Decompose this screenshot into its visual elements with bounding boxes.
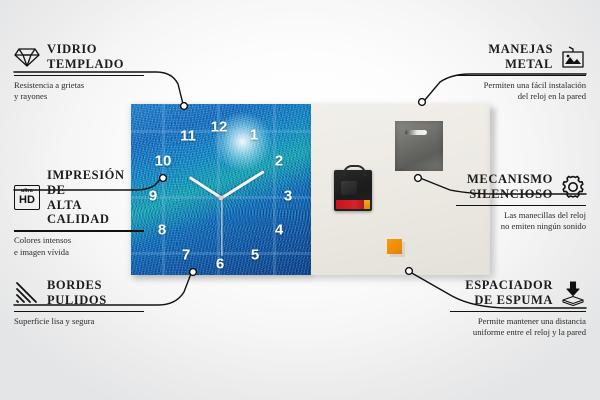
feature-rule (14, 311, 144, 313)
feature-description: Resistencia a grietas y rayones (14, 80, 144, 103)
metal-hanger-plate (395, 121, 443, 171)
feature-description: Colores intensos e imagen vívida (14, 235, 144, 258)
ultra-hd-icon: ultra HD (14, 185, 40, 211)
polished-edges-icon (14, 280, 40, 306)
clock-numeral-11: 11 (180, 129, 196, 144)
feature-title: MANEJAS METAL (488, 42, 553, 72)
feature-rule (456, 205, 586, 207)
battery-terminal (364, 200, 370, 209)
clock-numeral-7: 7 (182, 248, 190, 263)
feature-rule (456, 75, 586, 77)
clock-numeral-4: 4 (275, 223, 283, 238)
clock-center-cap (219, 196, 224, 201)
feature-description: Permiten una fácil instalación del reloj… (456, 80, 586, 103)
feature-callout-espaciador-de-espuma: ESPACIADOR DE ESPUMA Permite mantener un… (450, 278, 586, 339)
arrow-onto-layers-icon (560, 280, 586, 306)
feature-callout-mecanismo-silencioso: MECANISMO SILENCIOSO Las manecillas del … (456, 172, 586, 233)
feature-rule (14, 75, 144, 77)
mechanism-dial (341, 181, 357, 195)
feature-callout-impresion-alta-calidad: ultra HD IMPRESIÓN DE ALTA CALIDAD Color… (14, 168, 144, 258)
product-stage: 12 1 2 3 4 5 6 7 8 9 10 11 (131, 104, 490, 275)
clock-numeral-1: 1 (250, 128, 258, 143)
clock-numeral-12: 12 (211, 120, 228, 135)
feature-title: BORDES PULIDOS (47, 278, 107, 308)
feature-title: VIDRIO TEMPLADO (47, 42, 124, 72)
clock-front-face: 12 1 2 3 4 5 6 7 8 9 10 11 (131, 104, 311, 275)
feature-title: IMPRESIÓN DE ALTA CALIDAD (47, 168, 144, 227)
foam-spacer (387, 239, 402, 254)
feature-callout-manejas-metal: MANEJAS METAL Permiten una fácil instala… (456, 42, 586, 103)
clock-numeral-9: 9 (149, 189, 157, 204)
product-infographic: 12 1 2 3 4 5 6 7 8 9 10 11 (0, 0, 600, 400)
gear-icon (560, 174, 586, 200)
feature-rule (450, 311, 586, 313)
diamond-icon (14, 44, 40, 70)
feature-title: MECANISMO SILENCIOSO (467, 172, 553, 202)
clock-numeral-5: 5 (251, 248, 259, 263)
feature-description: Las manecillas del reloj no emiten ningú… (456, 210, 586, 233)
clock-numeral-10: 10 (155, 154, 172, 169)
feature-title: ESPACIADOR DE ESPUMA (465, 278, 553, 308)
hanger-slot (405, 130, 427, 135)
feature-description: Superficie lisa y segura (14, 316, 144, 328)
feature-callout-bordes-pulidos: BORDES PULIDOS Superficie lisa y segura (14, 278, 144, 327)
clock-numeral-6: 6 (216, 257, 224, 272)
clock-numeral-8: 8 (158, 223, 166, 238)
feature-callout-vidrio-templado: VIDRIO TEMPLADO Resistencia a grietas y … (14, 42, 144, 103)
quartz-mechanism (334, 170, 372, 211)
clock-numeral-2: 2 (275, 154, 283, 169)
mechanism-hanging-loop (343, 165, 366, 176)
ultra-hd-icon-main-label: HD (19, 195, 35, 206)
clock-second-hand (221, 198, 222, 256)
clock-numeral-3: 3 (284, 189, 292, 204)
feature-description: Permite mantener una distancia uniforme … (450, 316, 586, 339)
picture-frame-hanger-icon (560, 44, 586, 70)
feature-rule (14, 230, 144, 232)
